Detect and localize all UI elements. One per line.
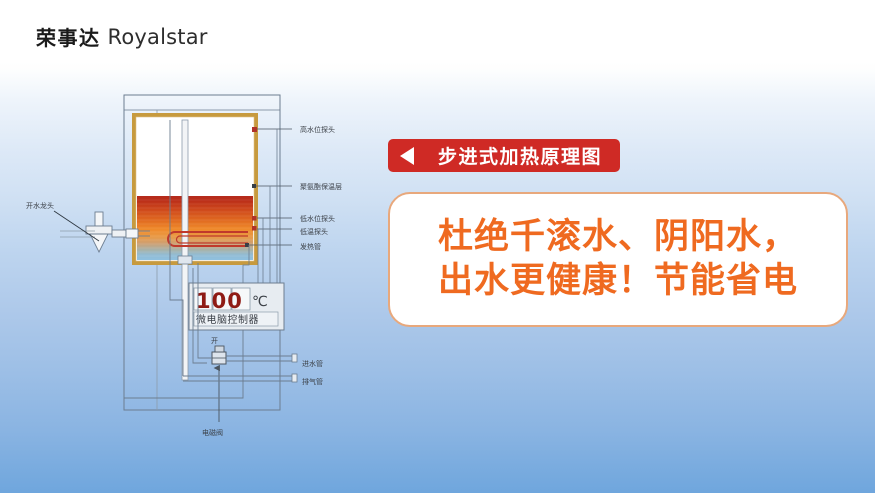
low-temp-probe-label: 低温探头: [300, 227, 328, 236]
tank-bottom-fitting: [178, 256, 192, 264]
headline-line-1: 杜绝千滚水、阴阳水，: [438, 217, 798, 258]
faucet-label-group: 开水龙头: [26, 201, 99, 241]
low-water-probe-label: 低水位探头: [300, 214, 335, 223]
section-banner: 步进式加热原理图: [388, 139, 620, 172]
faucet-label: 开水龙头: [26, 201, 54, 210]
valve-state-label: 开: [211, 337, 218, 345]
controller-caption: 微电脑控制器: [196, 313, 259, 326]
solenoid-valve-label: 电磁阀: [202, 428, 223, 437]
inlet-pipe-label: 进水管: [302, 359, 323, 368]
slide-canvas: 荣事达 Royalstar: [0, 0, 875, 493]
headline-line-2: 出水更健康！节能省电: [438, 261, 798, 302]
headline-callout-box: 杜绝千滚水、阴阳水， 出水更健康！节能省电: [388, 192, 848, 327]
solenoid-valve[interactable]: [212, 346, 226, 364]
tank-water-body: [137, 196, 253, 260]
microcomputer-controller[interactable]: 100 ℃ 微电脑控制器: [189, 283, 284, 330]
pipe-end-caps: [292, 354, 297, 382]
high-water-probe-label: 高水位探头: [300, 125, 335, 134]
controller-temperature-value: 100: [196, 289, 243, 313]
heating-principle-diagram: 开水龙头 高水位探头 聚氨酯保温层 低水位探头 低温探: [0, 0, 400, 493]
section-banner-title: 步进式加热原理图: [438, 142, 602, 169]
insulation-layer-label: 聚氨酯保温层: [300, 182, 342, 191]
heating-tube-label: 发热管: [300, 242, 321, 251]
controller-unit: ℃: [252, 294, 268, 310]
triangle-left-icon: [400, 147, 414, 165]
exhaust-pipe-label: 排气管: [302, 377, 323, 386]
solenoid-valve-pointer: 电磁阀: [202, 368, 223, 437]
